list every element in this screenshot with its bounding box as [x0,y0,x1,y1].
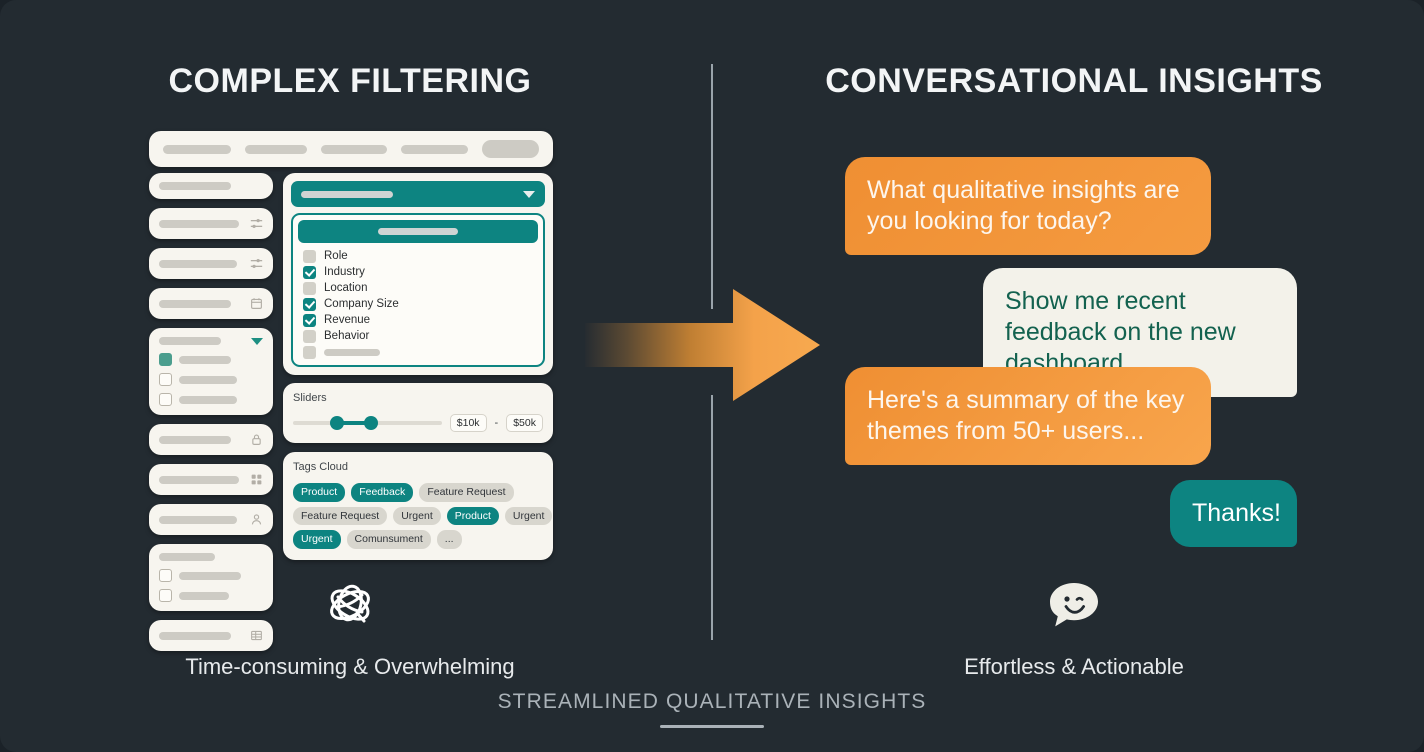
filter-group-header[interactable] [159,337,263,345]
checkbox-checked[interactable] [303,314,316,327]
footer-banner: STREAMLINED QUALITATIVE INSIGHTS [0,690,1424,728]
filter-row[interactable] [149,288,273,319]
filter-dropdown-menu[interactable]: Role Industry Location Company Size [291,213,545,367]
dropdown-option-placeholder [324,349,380,356]
option-placeholder [179,376,237,384]
lock-icon [250,433,263,446]
tag-chip[interactable]: Feature Request [419,483,513,502]
filter-select-card: Role Industry Location Company Size [283,173,553,375]
option-placeholder [179,356,231,364]
chat-conversation: What qualitative insights are you lookin… [845,157,1297,547]
tag-row: Feature Request Urgent Product Urgent [293,507,543,526]
dropdown-option-behavior[interactable]: Behavior [298,328,538,344]
search-placeholder [378,228,458,235]
tags-cloud-card: Tags Cloud Product Feedback Feature Requ… [283,452,553,560]
filter-row[interactable] [149,424,273,455]
filter-select[interactable] [291,181,545,207]
filter-row-placeholder [159,182,231,190]
dropdown-option-label: Revenue [324,314,370,326]
dropdown-option-label: Location [324,282,367,294]
sliders-label: Sliders [293,392,543,404]
filter-group-option[interactable] [159,373,263,386]
right-arrow-icon [585,289,820,401]
center-divider-top [711,64,713,309]
filter-toolbar[interactable] [149,131,553,167]
tag-chip[interactable]: Urgent [505,507,553,526]
footer-underline [660,725,764,728]
tag-row: Urgent Comunsument ... [293,530,543,549]
filter-row[interactable] [149,464,273,495]
filter-row-placeholder [159,516,237,524]
filter-row-placeholder [159,436,231,444]
filter-group-title-placeholder [159,553,215,561]
filter-main-column: Role Industry Location Company Size [283,173,553,560]
checkbox-unchecked[interactable] [159,393,172,406]
toolbar-placeholder-3 [321,145,387,154]
filter-group-option[interactable] [159,353,263,366]
filter-row[interactable] [149,248,273,279]
slider-handle-max[interactable] [364,416,378,430]
slider-separator: - [495,417,499,429]
sliders-card: Sliders $10k - $50k [283,383,553,443]
filter-row[interactable] [149,504,273,535]
dropdown-option-label: Role [324,250,348,262]
filter-row-placeholder [159,476,239,484]
toolbar-placeholder-1 [163,145,231,154]
toolbar-placeholder-2 [245,145,307,154]
checkbox-unchecked[interactable] [159,373,172,386]
tag-chip[interactable]: Feedback [351,483,413,502]
checkbox-checked[interactable] [303,266,316,279]
complex-filter-mockup: Role Industry Location Company Size [149,131,553,555]
filter-group-option[interactable] [159,393,263,406]
footer-left-caption: Time-consuming & Overwhelming [0,654,700,680]
checkbox-unchecked[interactable] [303,250,316,263]
chevron-down-icon [523,191,535,198]
chat-bubble-assistant: Here's a summary of the key themes from … [845,367,1211,465]
filter-group-header[interactable] [159,553,263,561]
toolbar-action-button[interactable] [482,140,539,158]
dropdown-option-label: Industry [324,266,365,278]
dropdown-search-input[interactable] [298,220,538,243]
checkbox-checked[interactable] [303,298,316,311]
checkbox-checked[interactable] [159,353,172,366]
footer-banner-text: STREAMLINED QUALITATIVE INSIGHTS [0,690,1424,714]
footer-right-caption: Effortless & Actionable [724,654,1424,680]
dropdown-option-role[interactable]: Role [298,248,538,264]
infographic-canvas: COMPLEX FILTERING CONVERSATIONAL INSIGHT… [0,0,1424,752]
page-title-right: CONVERSATIONAL INSIGHTS [724,62,1424,101]
tag-chip[interactable]: Urgent [293,530,341,549]
slider-track[interactable] [293,421,442,425]
sliders-icon [250,257,263,270]
sliders-icon [250,217,263,230]
chat-bubble-user: Thanks! [1170,480,1297,547]
grid-icon [250,473,263,486]
checkbox-unchecked[interactable] [303,330,316,343]
tangled-knot-icon [0,572,700,638]
tag-chip[interactable]: Product [447,507,499,526]
tags-cloud-label: Tags Cloud [293,461,543,473]
page-title-left: COMPLEX FILTERING [0,62,700,101]
range-slider[interactable]: $10k - $50k [293,414,543,432]
tag-chip[interactable]: ... [437,530,462,549]
slider-max-value[interactable]: $50k [506,414,543,432]
tag-chip[interactable]: Product [293,483,345,502]
slider-min-value[interactable]: $10k [450,414,487,432]
dropdown-option-label: Behavior [324,330,369,342]
person-icon [250,513,263,526]
checkbox-unchecked[interactable] [303,282,316,295]
chat-bubble-assistant: What qualitative insights are you lookin… [845,157,1211,255]
tag-chip[interactable]: Urgent [393,507,441,526]
select-value-placeholder [301,191,393,198]
dropdown-option-label: Company Size [324,298,399,310]
filter-group[interactable] [149,328,273,415]
option-placeholder [179,396,237,404]
calendar-icon [250,297,263,310]
filter-row[interactable] [149,173,273,199]
filter-group-title-placeholder [159,337,221,345]
dropdown-option-industry[interactable]: Industry [298,264,538,280]
smiley-speech-bubble-icon [724,572,1424,638]
filter-row-placeholder [159,260,237,268]
filter-row-placeholder [159,220,239,228]
filter-row[interactable] [149,208,273,239]
footer-right: Effortless & Actionable [724,572,1424,680]
tag-chip[interactable]: Feature Request [293,507,387,526]
tag-chip[interactable]: Comunsument [347,530,431,549]
toolbar-placeholder-4 [401,145,469,154]
checkbox-unchecked[interactable] [303,346,316,359]
dropdown-option-company-size[interactable]: Company Size [298,296,538,312]
tag-row: Product Feedback Feature Request [293,483,543,502]
filter-row-placeholder [159,300,231,308]
chevron-down-icon [251,338,263,345]
footer-left: Time-consuming & Overwhelming [0,572,700,680]
dropdown-option-revenue[interactable]: Revenue [298,312,538,328]
slider-handle-min[interactable] [330,416,344,430]
dropdown-option-more[interactable] [298,344,538,360]
dropdown-option-location[interactable]: Location [298,280,538,296]
center-divider-bottom [711,395,713,640]
